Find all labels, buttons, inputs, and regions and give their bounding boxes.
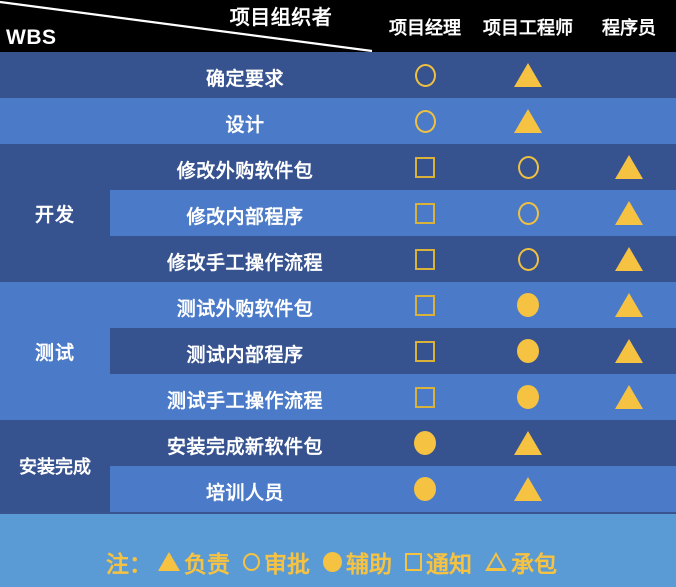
matrix-cell[interactable] <box>376 236 474 282</box>
matrix-cell[interactable] <box>474 52 582 98</box>
legend-item-label: 负责 <box>184 545 230 579</box>
matrix-cell[interactable] <box>474 466 582 512</box>
square-open-icon <box>415 387 435 408</box>
task-name[interactable]: 安装完成新软件包 <box>110 432 380 459</box>
matrix-cell[interactable] <box>582 420 676 466</box>
header-organizer-label: 项目组织者 <box>186 1 376 30</box>
row-cells <box>376 98 676 144</box>
matrix-cell[interactable] <box>376 466 474 512</box>
circle-open-icon <box>415 64 436 87</box>
triangle-filled-icon <box>514 63 542 87</box>
task-name[interactable]: 测试手工操作流程 <box>110 386 380 413</box>
matrix-cell[interactable] <box>582 236 676 282</box>
column-header-programmer: 程序员 <box>582 14 676 40</box>
row-cells <box>376 52 676 98</box>
square-open-icon <box>415 295 435 316</box>
square-open-icon <box>405 553 422 571</box>
circle-open-icon <box>518 202 539 225</box>
triangle-open-icon <box>485 552 507 571</box>
matrix-cell[interactable] <box>376 52 474 98</box>
matrix-cell[interactable] <box>376 282 474 328</box>
group-label: 安装完成 <box>19 453 91 479</box>
header-wbs-label: WBS <box>6 26 57 50</box>
square-open-icon <box>415 157 435 178</box>
triangle-filled-icon <box>615 201 643 225</box>
row-cells <box>376 190 676 236</box>
matrix-cell[interactable] <box>474 328 582 374</box>
legend-prefix: 注： <box>106 545 152 579</box>
task-name[interactable]: 测试内部程序 <box>110 340 380 367</box>
row-cells <box>376 282 676 328</box>
raci-matrix-chart: 项目组织者 WBS 项目经理 项目工程师 程序员 PM圈子 PMleader.c… <box>0 0 676 587</box>
circle-filled-icon <box>414 431 436 455</box>
matrix-cell[interactable] <box>474 190 582 236</box>
legend: 注： 负责审批辅助通知承包 <box>0 514 676 587</box>
circle-filled-icon <box>517 293 539 317</box>
matrix-cell[interactable] <box>376 190 474 236</box>
matrix-cell[interactable] <box>582 282 676 328</box>
matrix-cell[interactable] <box>582 328 676 374</box>
triangle-filled-icon <box>615 247 643 271</box>
column-header-project-manager: 项目经理 <box>376 14 474 40</box>
column-header-project-engineer: 项目工程师 <box>474 14 582 40</box>
legend-item: 通知 <box>405 545 472 579</box>
matrix-cell[interactable] <box>582 374 676 420</box>
circle-filled-icon <box>517 385 539 409</box>
triangle-filled-icon <box>514 477 542 501</box>
circle-filled-icon <box>323 552 342 572</box>
header-column-labels: 项目经理 项目工程师 程序员 <box>376 14 676 40</box>
circle-open-icon <box>518 248 539 271</box>
square-open-icon <box>415 341 435 362</box>
table-body: PM圈子 PMleader.cn 开发测试安装完成确定要求设计修改外购软件包修改… <box>0 52 676 514</box>
row-cells <box>376 328 676 374</box>
circle-open-icon <box>518 156 539 179</box>
group-cell[interactable]: 开发 <box>0 144 110 282</box>
matrix-cell[interactable] <box>376 98 474 144</box>
matrix-cell[interactable] <box>474 282 582 328</box>
legend-item: 辅助 <box>323 545 392 579</box>
task-name[interactable]: 培训人员 <box>110 478 380 505</box>
legend-item-label: 审批 <box>264 545 310 579</box>
legend-item: 负责 <box>158 545 230 579</box>
matrix-cell[interactable] <box>582 98 676 144</box>
row-cells <box>376 374 676 420</box>
matrix-cell[interactable] <box>474 144 582 190</box>
square-open-icon <box>415 249 435 270</box>
matrix-cell[interactable] <box>376 374 474 420</box>
table-header: 项目组织者 WBS 项目经理 项目工程师 程序员 <box>0 0 676 52</box>
row-cells <box>376 144 676 190</box>
matrix-cell[interactable] <box>582 466 676 512</box>
triangle-filled-icon <box>514 109 542 133</box>
triangle-filled-icon <box>615 155 643 179</box>
triangle-filled-icon <box>514 431 542 455</box>
group-cell[interactable]: 测试 <box>0 282 110 420</box>
matrix-cell[interactable] <box>376 328 474 374</box>
task-name[interactable]: 修改外购软件包 <box>110 156 380 183</box>
matrix-cell[interactable] <box>474 374 582 420</box>
matrix-cell[interactable] <box>474 98 582 144</box>
matrix-cell[interactable] <box>474 236 582 282</box>
triangle-filled-icon <box>158 552 180 571</box>
triangle-filled-icon <box>615 385 643 409</box>
task-name[interactable]: 测试外购软件包 <box>110 294 380 321</box>
group-label: 开发 <box>35 200 75 227</box>
circle-open-icon <box>415 110 436 133</box>
triangle-filled-icon <box>615 293 643 317</box>
group-cell[interactable]: 安装完成 <box>0 420 110 512</box>
matrix-cell[interactable] <box>582 52 676 98</box>
circle-open-icon <box>243 553 260 571</box>
triangle-filled-icon <box>615 339 643 363</box>
circle-filled-icon <box>517 339 539 363</box>
legend-item-label: 辅助 <box>346 545 392 579</box>
square-open-icon <box>415 203 435 224</box>
matrix-cell[interactable] <box>582 190 676 236</box>
group-label: 测试 <box>35 338 75 365</box>
matrix-cell[interactable] <box>582 144 676 190</box>
legend-item-label: 通知 <box>426 545 472 579</box>
matrix-cell[interactable] <box>376 420 474 466</box>
legend-item: 审批 <box>243 545 310 579</box>
matrix-cell[interactable] <box>376 144 474 190</box>
matrix-cell[interactable] <box>474 420 582 466</box>
task-name[interactable]: 确定要求 <box>110 64 380 91</box>
task-name[interactable]: 修改内部程序 <box>110 202 380 229</box>
row-cells <box>376 420 676 466</box>
row-cells <box>376 466 676 512</box>
task-name[interactable]: 设计 <box>110 110 380 137</box>
circle-filled-icon <box>414 477 436 501</box>
task-name[interactable]: 修改手工操作流程 <box>110 248 380 275</box>
legend-item: 承包 <box>485 545 557 579</box>
row-cells <box>376 236 676 282</box>
legend-item-label: 承包 <box>511 545 557 579</box>
